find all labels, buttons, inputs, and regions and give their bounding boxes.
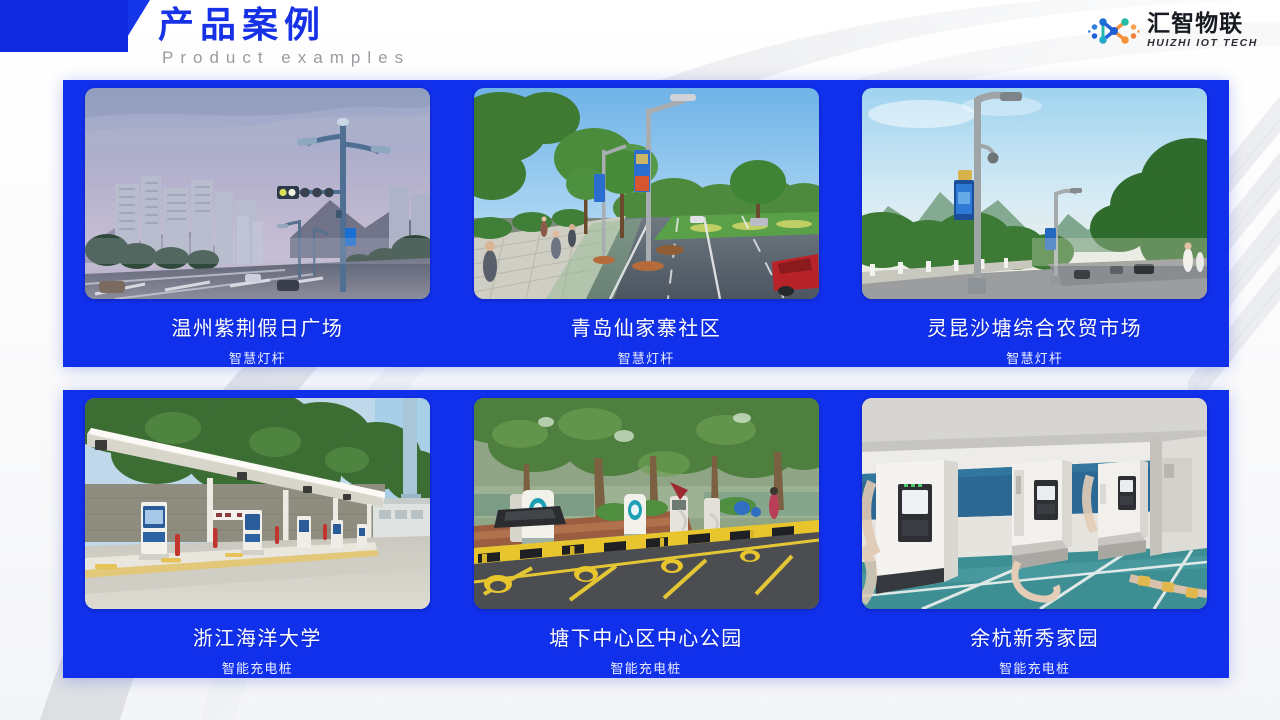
case-card[interactable]: 青岛仙家寨社区 智慧灯杆 [452, 80, 841, 367]
page-title: 产品案例 Product examples [158, 4, 410, 69]
case-subtitle: 智慧灯杆 [1006, 348, 1063, 367]
case-card-list-2: 浙江海洋大学 智能充电桩 [63, 390, 1229, 678]
canopy-charging-station-photo [85, 398, 430, 609]
case-subtitle: 智慧灯杆 [229, 348, 286, 367]
green-boulevard-smart-pole-render [474, 88, 819, 299]
header-corner-block [0, 0, 128, 52]
case-panel-row-2: 浙江海洋大学 智能充电桩 [63, 390, 1229, 678]
brand-logo-text: 汇智物联 HUIZHI IOT TECH [1147, 12, 1258, 50]
case-card[interactable]: 浙江海洋大学 智能充电桩 [63, 390, 452, 678]
slide-root: 产品案例 Product examples [0, 0, 1280, 720]
case-title: 灵昆沙塘综合农贸市场 [927, 312, 1142, 341]
roadside-smart-pole-screen-photo [862, 88, 1207, 299]
page-title-en: Product examples [158, 47, 410, 69]
case-card[interactable]: 余杭新秀家园 智能充电桩 [840, 390, 1229, 678]
page-title-cn: 产品案例 [158, 4, 410, 48]
brand-name-en: HUIZHI IOT TECH [1147, 37, 1258, 50]
case-subtitle: 智能充电桩 [999, 658, 1070, 677]
brand-name-cn: 汇智物联 [1147, 12, 1258, 37]
case-title: 塘下中心区中心公园 [549, 622, 743, 651]
case-card[interactable]: 塘下中心区中心公园 智能充电桩 [452, 390, 841, 678]
case-card[interactable]: 温州紫荆假日广场 智慧灯杆 [63, 80, 452, 367]
case-card-list-1: 温州紫荆假日广场 智慧灯杆 [63, 80, 1229, 367]
case-title: 余杭新秀家园 [970, 622, 1099, 651]
case-panel-row-1: 温州紫荆假日广场 智慧灯杆 [63, 80, 1229, 367]
park-parking-lot-chargers-photo [474, 398, 819, 609]
brand-logo: 汇智物联 HUIZHI IOT TECH [1088, 12, 1258, 50]
page-header: 产品案例 Product examples [0, 0, 1280, 72]
case-subtitle: 智能充电桩 [611, 658, 682, 677]
case-card[interactable]: 灵昆沙塘综合农贸市场 智慧灯杆 [840, 80, 1229, 367]
case-subtitle: 智慧灯杆 [618, 348, 675, 367]
network-molecule-icon [1088, 14, 1140, 48]
case-title: 浙江海洋大学 [193, 622, 322, 651]
indoor-garage-charging-cabinets-photo [862, 398, 1207, 609]
case-title: 温州紫荆假日广场 [171, 312, 343, 341]
case-subtitle: 智能充电桩 [222, 658, 293, 677]
dusk-city-street-smart-pole-photo [85, 88, 430, 299]
case-title: 青岛仙家寨社区 [571, 312, 722, 341]
